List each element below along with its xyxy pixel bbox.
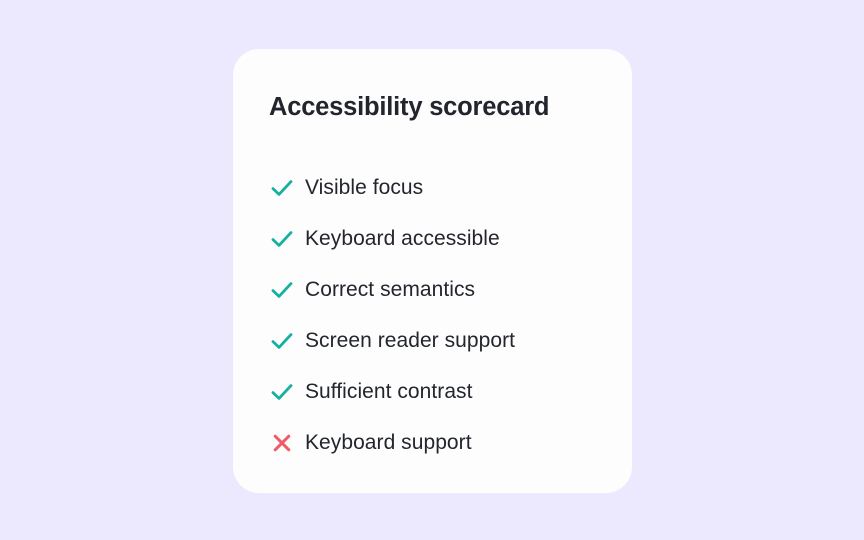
page-title: Accessibility scorecard (269, 93, 549, 122)
list-item: Visible focus (269, 162, 612, 213)
check-icon (269, 224, 305, 254)
check-icon (269, 326, 305, 356)
list-item-label: Keyboard support (305, 431, 472, 455)
list-item: Sufficient contrast (269, 366, 612, 417)
check-icon (269, 377, 305, 407)
list-item-label: Visible focus (305, 176, 423, 200)
list-item: Correct semantics (269, 264, 612, 315)
list-item: Keyboard support (269, 417, 612, 468)
accessibility-scorecard-card: Accessibility scorecard Visible focus Ke… (233, 49, 632, 493)
list-item-label: Correct semantics (305, 278, 475, 302)
list-item-label: Screen reader support (305, 329, 515, 353)
page-canvas: Accessibility scorecard Visible focus Ke… (0, 0, 864, 540)
list-item-label: Sufficient contrast (305, 380, 472, 404)
cross-icon (269, 428, 305, 458)
check-icon (269, 275, 305, 305)
check-icon (269, 173, 305, 203)
list-item-label: Keyboard accessible (305, 227, 500, 251)
list-item: Screen reader support (269, 315, 612, 366)
list-item: Keyboard accessible (269, 213, 612, 264)
accessibility-checklist: Visible focus Keyboard accessible Correc… (269, 162, 612, 468)
